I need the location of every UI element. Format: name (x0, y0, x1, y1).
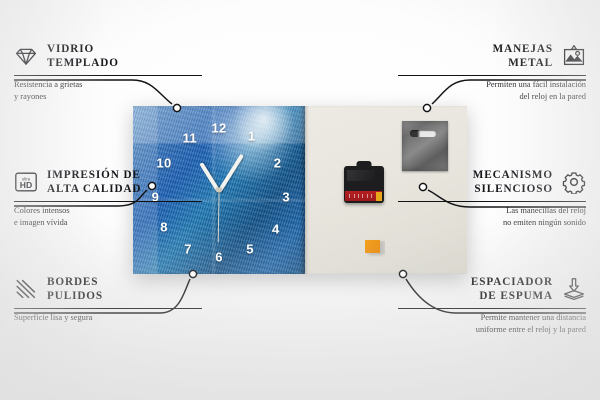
feature-impresion-alta-calidad[interactable]: ultra HD IMPRESIÓN DE ALTA CALIDAD Color… (14, 168, 202, 229)
feature-manejas-metal[interactable]: MANEJAS METAL Permiten una fácil instala… (398, 42, 586, 103)
diamond-icon (14, 44, 38, 68)
feature-header: MECANISMO SILENCIOSO (398, 168, 586, 201)
polished-edges-icon (14, 277, 38, 301)
foam-spacer-icon (562, 277, 586, 301)
mechanism-battery-chip (376, 192, 382, 201)
mechanism-sheen (347, 170, 375, 181)
clock-mechanism-box (344, 166, 384, 203)
feature-vidrio-templado[interactable]: VIDRIO TEMPLADO Resistencia a grietas y … (14, 42, 202, 103)
feature-subtitle: Permiten una fácil instalación del reloj… (398, 76, 586, 103)
clock-numeral: 11 (183, 130, 197, 145)
infographic-canvas: 12 1 2 3 4 5 6 7 8 9 10 11 (0, 0, 600, 400)
mechanism-handle (356, 161, 371, 168)
feature-header: ESPACIADOR DE ESPUMA (398, 275, 586, 308)
glass-glare (233, 106, 295, 153)
feature-header: MANEJAS METAL (398, 42, 586, 75)
ultra-hd-icon: ultra HD (14, 170, 38, 194)
feature-title: IMPRESIÓN DE ALTA CALIDAD (47, 168, 141, 197)
feature-espaciador-espuma[interactable]: ESPACIADOR DE ESPUMA Permite mantener un… (398, 275, 586, 336)
clock-numeral: 12 (211, 120, 226, 135)
picture-hanger-icon (562, 44, 586, 68)
gear-icon (562, 170, 586, 194)
feature-title: ESPACIADOR DE ESPUMA (471, 275, 553, 304)
clock-numeral: 4 (272, 221, 280, 236)
feature-bordes-pulidos[interactable]: BORDES PULIDOS Superficie lisa y segura (14, 275, 202, 324)
clock-numeral: 6 (215, 250, 223, 265)
feature-subtitle: Las manecillas del reloj no emiten ningú… (398, 202, 586, 229)
clock-numeral: 7 (184, 241, 192, 256)
feature-subtitle: Superficie lisa y segura (14, 309, 202, 324)
feature-subtitle: Permite mantener una distancia uniforme … (398, 309, 586, 336)
foam-spacer-pad (365, 240, 380, 253)
svg-text:HD: HD (20, 180, 32, 190)
feature-title: VIDRIO TEMPLADO (47, 42, 119, 71)
clock-second-hand (217, 191, 219, 243)
clock-numeral: 2 (274, 156, 282, 171)
clock-numeral: 3 (282, 189, 290, 204)
feature-header: ultra HD IMPRESIÓN DE ALTA CALIDAD (14, 168, 202, 201)
clock-minute-hand (217, 154, 244, 193)
feature-title: MANEJAS METAL (493, 42, 553, 71)
metal-hanger-plate (402, 121, 448, 171)
clock-center-cap (217, 188, 222, 193)
feature-title: BORDES PULIDOS (47, 275, 103, 304)
clock-numeral: 1 (248, 129, 256, 144)
feature-mecanismo-silencioso[interactable]: MECANISMO SILENCIOSO Las manecillas del … (398, 168, 586, 229)
feature-header: BORDES PULIDOS (14, 275, 202, 308)
feature-subtitle: Colores intensos e imagen vívida (14, 202, 202, 229)
feature-title: MECANISMO SILENCIOSO (473, 168, 553, 197)
feature-header: VIDRIO TEMPLADO (14, 42, 202, 75)
feature-subtitle: Resistencia a grietas y rayones (14, 76, 202, 103)
clock-numeral: 5 (246, 241, 254, 256)
hanger-slot (410, 130, 437, 137)
